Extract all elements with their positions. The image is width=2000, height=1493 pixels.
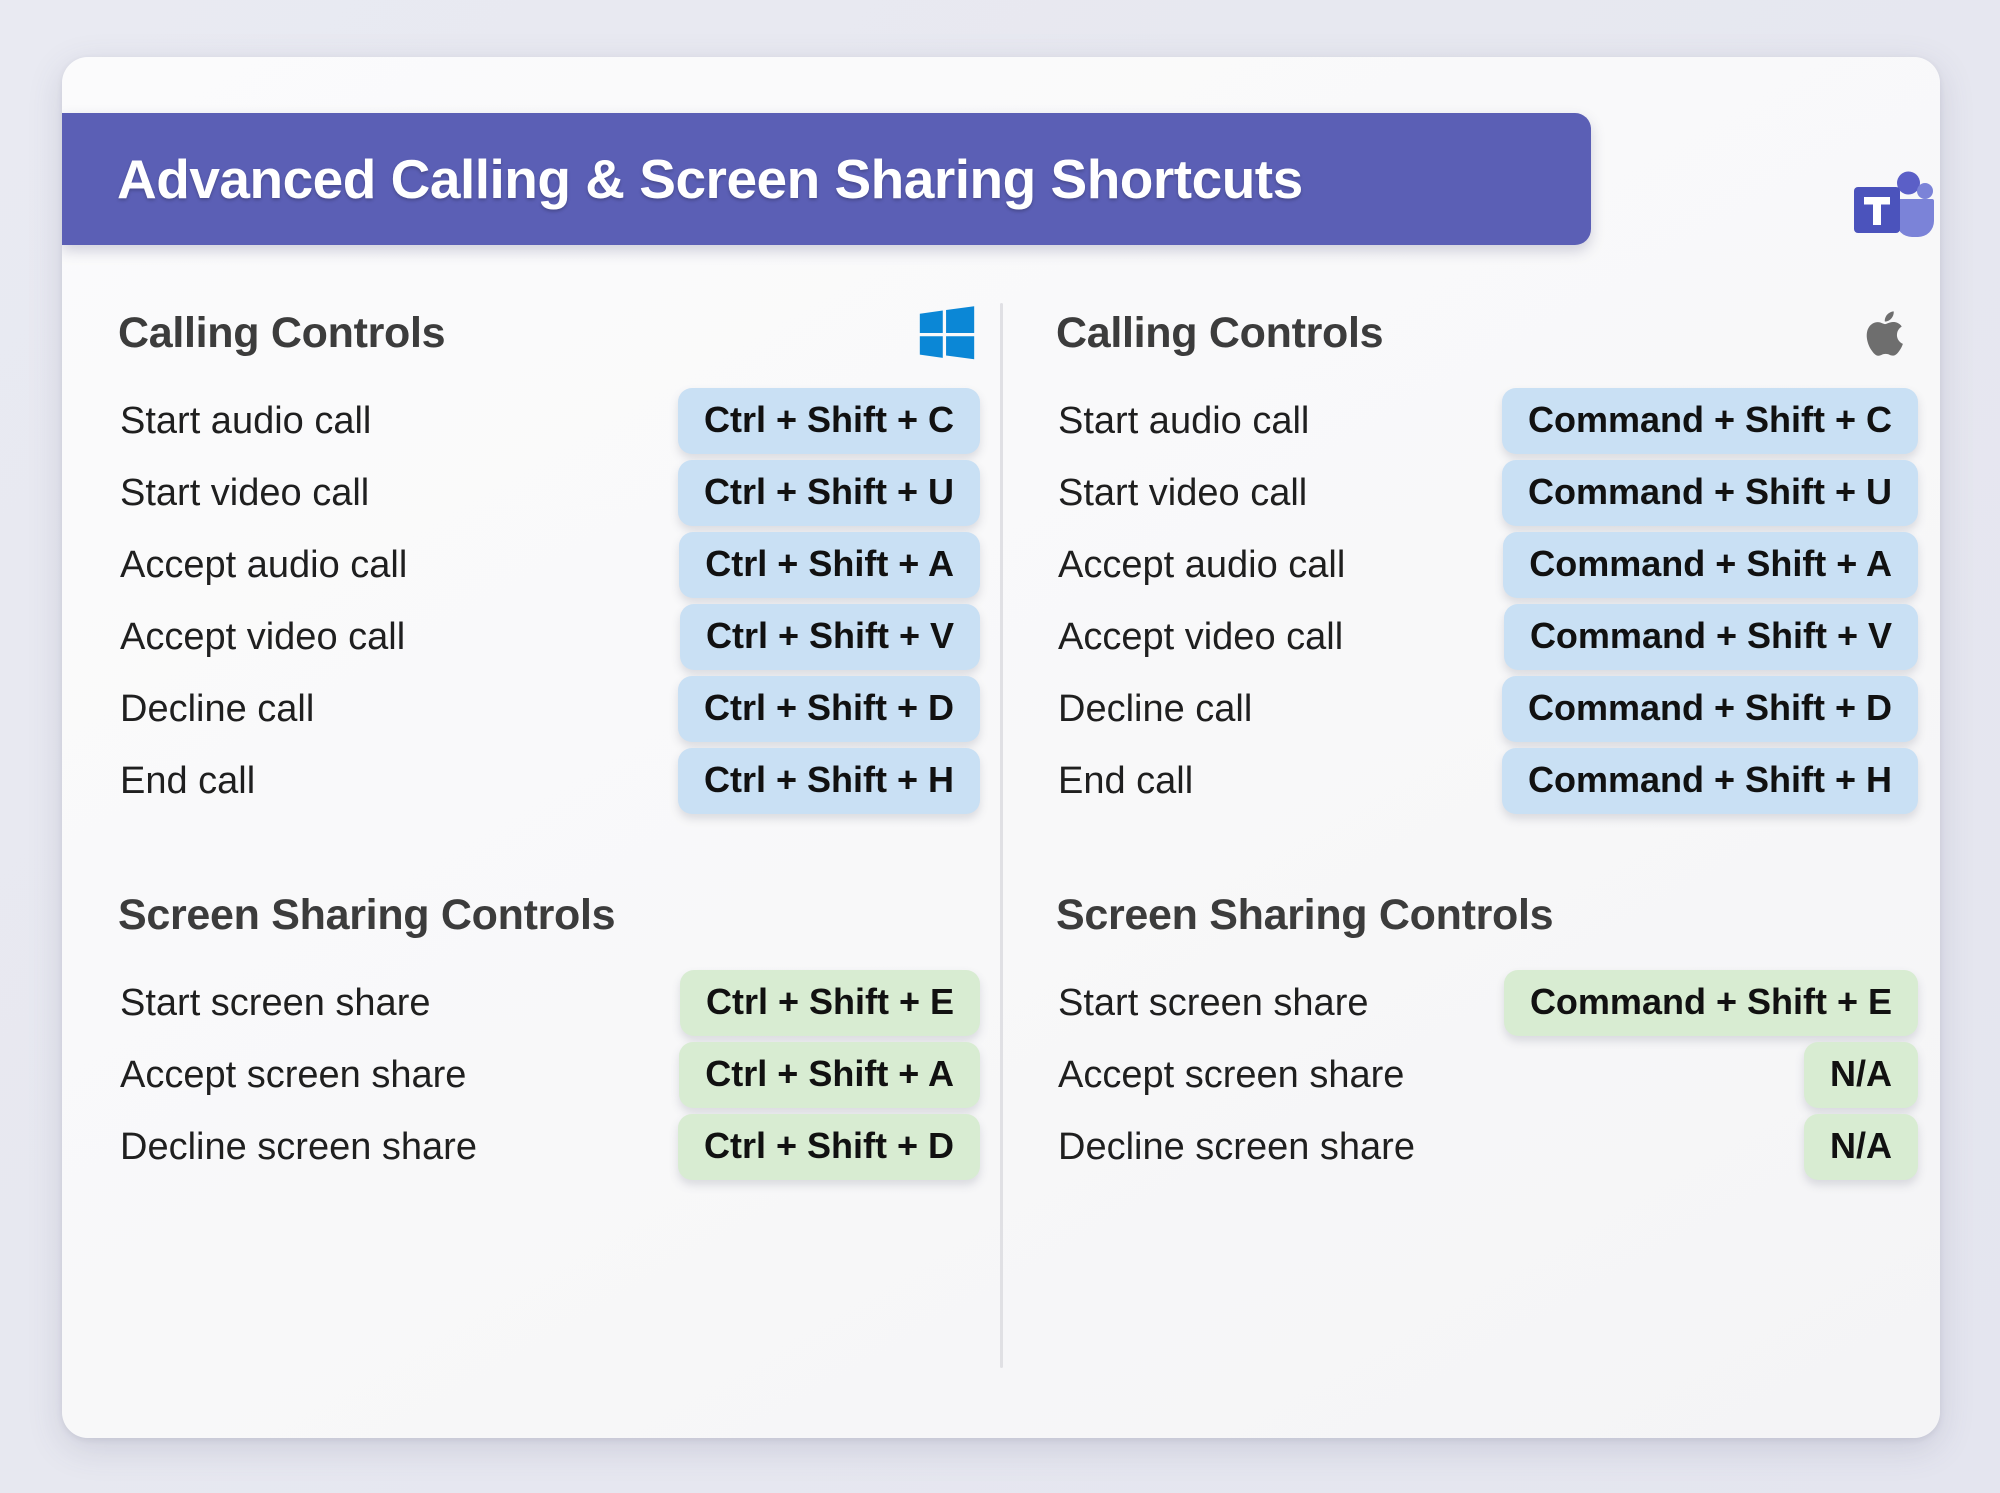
section-title: Screen Sharing Controls bbox=[118, 891, 615, 940]
shortcut-label: Decline call bbox=[1056, 688, 1252, 731]
rows-sharing-windows: Start screen share Ctrl + Shift + E Acce… bbox=[118, 967, 998, 1183]
column-divider bbox=[1000, 303, 1003, 1368]
shortcut-key-chip: N/A bbox=[1804, 1114, 1918, 1180]
column-windows: Calling Controls Start audio call Ctrl +… bbox=[118, 245, 998, 1183]
section-title: Calling Controls bbox=[1056, 309, 1383, 358]
columns-area: Calling Controls Start audio call Ctrl +… bbox=[62, 245, 1940, 1438]
section-title: Calling Controls bbox=[118, 309, 445, 358]
shortcut-row: End call Command + Shift + H bbox=[1056, 745, 1936, 817]
shortcut-key-chip: Command + Shift + E bbox=[1504, 970, 1918, 1036]
shortcut-key-chip: Command + Shift + C bbox=[1502, 388, 1918, 454]
shortcut-row: Start screen share Ctrl + Shift + E bbox=[118, 967, 998, 1039]
shortcut-row: Decline call Command + Shift + D bbox=[1056, 673, 1936, 745]
shortcut-row: Accept video call Ctrl + Shift + V bbox=[118, 601, 998, 673]
shortcut-row: Accept video call Command + Shift + V bbox=[1056, 601, 1936, 673]
shortcut-label: Start video call bbox=[1056, 472, 1307, 515]
shortcut-label: End call bbox=[1056, 760, 1193, 803]
shortcut-row: Decline call Ctrl + Shift + D bbox=[118, 673, 998, 745]
shortcut-key-chip: Command + Shift + H bbox=[1502, 748, 1918, 814]
windows-logo-icon bbox=[914, 300, 980, 366]
shortcut-row: Start video call Ctrl + Shift + U bbox=[118, 457, 998, 529]
apple-logo-icon bbox=[1852, 300, 1918, 366]
shortcut-label: Start video call bbox=[118, 472, 369, 515]
shortcut-label: Accept audio call bbox=[1056, 544, 1345, 587]
shortcut-row: Accept screen share Ctrl + Shift + A bbox=[118, 1039, 998, 1111]
shortcut-label: Decline screen share bbox=[1056, 1126, 1415, 1169]
shortcut-row: Accept audio call Ctrl + Shift + A bbox=[118, 529, 998, 601]
section-header-calling-mac: Calling Controls bbox=[1056, 297, 1936, 369]
shortcut-row: Accept screen share N/A bbox=[1056, 1039, 1936, 1111]
shortcut-row: Start audio call Ctrl + Shift + C bbox=[118, 385, 998, 457]
shortcut-key-chip: Ctrl + Shift + A bbox=[679, 532, 980, 598]
shortcut-label: Accept audio call bbox=[118, 544, 407, 587]
shortcut-label: Start audio call bbox=[1056, 400, 1309, 443]
shortcut-key-chip: Ctrl + Shift + C bbox=[678, 388, 980, 454]
shortcut-row: End call Ctrl + Shift + H bbox=[118, 745, 998, 817]
section-title: Screen Sharing Controls bbox=[1056, 891, 1553, 940]
shortcut-label: Accept screen share bbox=[118, 1054, 466, 1097]
shortcut-key-chip: Ctrl + Shift + U bbox=[678, 460, 980, 526]
section-header-sharing-windows: Screen Sharing Controls bbox=[118, 879, 998, 951]
column-mac: Calling Controls Start audio call Comman… bbox=[1056, 245, 1936, 1183]
shortcut-row: Decline screen share N/A bbox=[1056, 1111, 1936, 1183]
shortcut-row: Accept audio call Command + Shift + A bbox=[1056, 529, 1936, 601]
shortcut-key-chip: Ctrl + Shift + A bbox=[679, 1042, 980, 1108]
shortcut-label: Start screen share bbox=[118, 982, 430, 1025]
shortcut-label: Start screen share bbox=[1056, 982, 1368, 1025]
shortcut-key-chip: N/A bbox=[1804, 1042, 1918, 1108]
shortcut-row: Start video call Command + Shift + U bbox=[1056, 457, 1936, 529]
shortcut-key-chip: Command + Shift + U bbox=[1502, 460, 1918, 526]
shortcut-label: Start audio call bbox=[118, 400, 371, 443]
shortcut-label: Accept video call bbox=[1056, 616, 1343, 659]
shortcut-label: Accept screen share bbox=[1056, 1054, 1404, 1097]
shortcut-row: Decline screen share Ctrl + Shift + D bbox=[118, 1111, 998, 1183]
shortcut-label: Accept video call bbox=[118, 616, 405, 659]
shortcut-key-chip: Ctrl + Shift + D bbox=[678, 676, 980, 742]
shortcut-label: End call bbox=[118, 760, 255, 803]
shortcut-label: Decline call bbox=[118, 688, 314, 731]
shortcut-key-chip: Ctrl + Shift + D bbox=[678, 1114, 980, 1180]
section-header-calling-windows: Calling Controls bbox=[118, 297, 998, 369]
shortcut-key-chip: Ctrl + Shift + E bbox=[680, 970, 980, 1036]
shortcuts-card: Advanced Calling & Screen Sharing Shortc… bbox=[62, 57, 1940, 1438]
shortcut-key-chip: Command + Shift + V bbox=[1504, 604, 1918, 670]
section-header-sharing-mac: Screen Sharing Controls bbox=[1056, 879, 1936, 951]
shortcut-key-chip: Ctrl + Shift + V bbox=[680, 604, 980, 670]
header-band: Advanced Calling & Screen Sharing Shortc… bbox=[62, 113, 1591, 245]
page-title: Advanced Calling & Screen Sharing Shortc… bbox=[117, 147, 1303, 211]
shortcut-key-chip: Command + Shift + D bbox=[1502, 676, 1918, 742]
microsoft-teams-logo-icon bbox=[1848, 169, 1934, 249]
shortcut-row: Start audio call Command + Shift + C bbox=[1056, 385, 1936, 457]
shortcut-key-chip: Ctrl + Shift + H bbox=[678, 748, 980, 814]
shortcut-label: Decline screen share bbox=[118, 1126, 477, 1169]
rows-calling-windows: Start audio call Ctrl + Shift + C Start … bbox=[118, 385, 998, 817]
rows-calling-mac: Start audio call Command + Shift + C Sta… bbox=[1056, 385, 1936, 817]
rows-sharing-mac: Start screen share Command + Shift + E A… bbox=[1056, 967, 1936, 1183]
shortcut-key-chip: Command + Shift + A bbox=[1503, 532, 1918, 598]
shortcut-row: Start screen share Command + Shift + E bbox=[1056, 967, 1936, 1039]
